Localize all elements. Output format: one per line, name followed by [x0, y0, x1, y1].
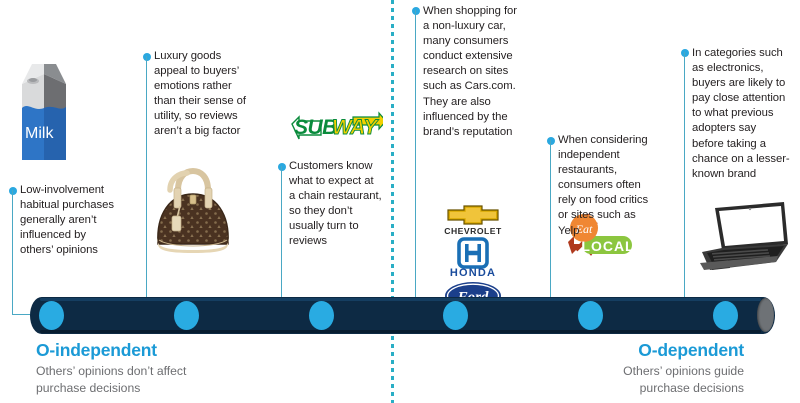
o-independent-subtitle: Others’ opinions don’t affect purchase d… [36, 363, 186, 396]
callout-text-non-luxury-car: When shopping for a non-luxury car, many… [423, 4, 535, 140]
svg-text:HONDA: HONDA [450, 267, 496, 279]
spectrum-bar [30, 297, 775, 334]
callout-text-electronics: In categories such as electronics, buyer… [692, 46, 800, 182]
svg-text:WAY: WAY [332, 116, 379, 139]
spectrum-node-2[interactable] [174, 301, 199, 330]
svg-text:SUB: SUB [294, 116, 337, 139]
o-dependent-subtitle: Others’ opinions guide purchase decision… [623, 363, 744, 396]
spectrum-bar-end-cap [757, 298, 774, 332]
infographic-canvas: Milk [0, 0, 800, 403]
spectrum-node-4[interactable] [443, 301, 468, 330]
svg-text:LOCAL: LOCAL [581, 238, 634, 254]
car-brand-logos-image: CHEVROLET HONDA Ford [430, 204, 516, 312]
callout-text-independent-restaurant: When considering independent restaurants… [558, 133, 674, 239]
svg-text:CHEVROLET: CHEVROLET [444, 226, 502, 236]
milk-carton-image: Milk [18, 62, 70, 160]
netbook-laptop-image [698, 200, 792, 278]
left-end-label: O-independent Others’ opinions don’t aff… [36, 340, 186, 396]
callout-text-milk: Low-involvement habitual purchases gener… [20, 183, 140, 258]
spectrum-node-3[interactable] [309, 301, 334, 330]
spectrum-node-1[interactable] [39, 301, 64, 330]
o-dependent-title: O-dependent [623, 340, 744, 361]
callout-text-luxury: Luxury goods appeal to buyers’ emotions … [154, 49, 270, 140]
callout-text-chain-restaurant: Customers know what to expect at a chain… [289, 159, 405, 250]
svg-text:Milk: Milk [25, 125, 54, 142]
o-independent-title: O-independent [36, 340, 186, 361]
spectrum-node-5[interactable] [578, 301, 603, 330]
subway-logo-image: SUB WAY [291, 108, 383, 144]
bar-shadow [40, 330, 761, 333]
right-end-label: O-dependent Others’ opinions guide purch… [623, 340, 744, 396]
louis-vuitton-handbag-image [150, 166, 236, 256]
spectrum-node-6[interactable] [713, 301, 738, 330]
bar-highlight [40, 298, 761, 301]
